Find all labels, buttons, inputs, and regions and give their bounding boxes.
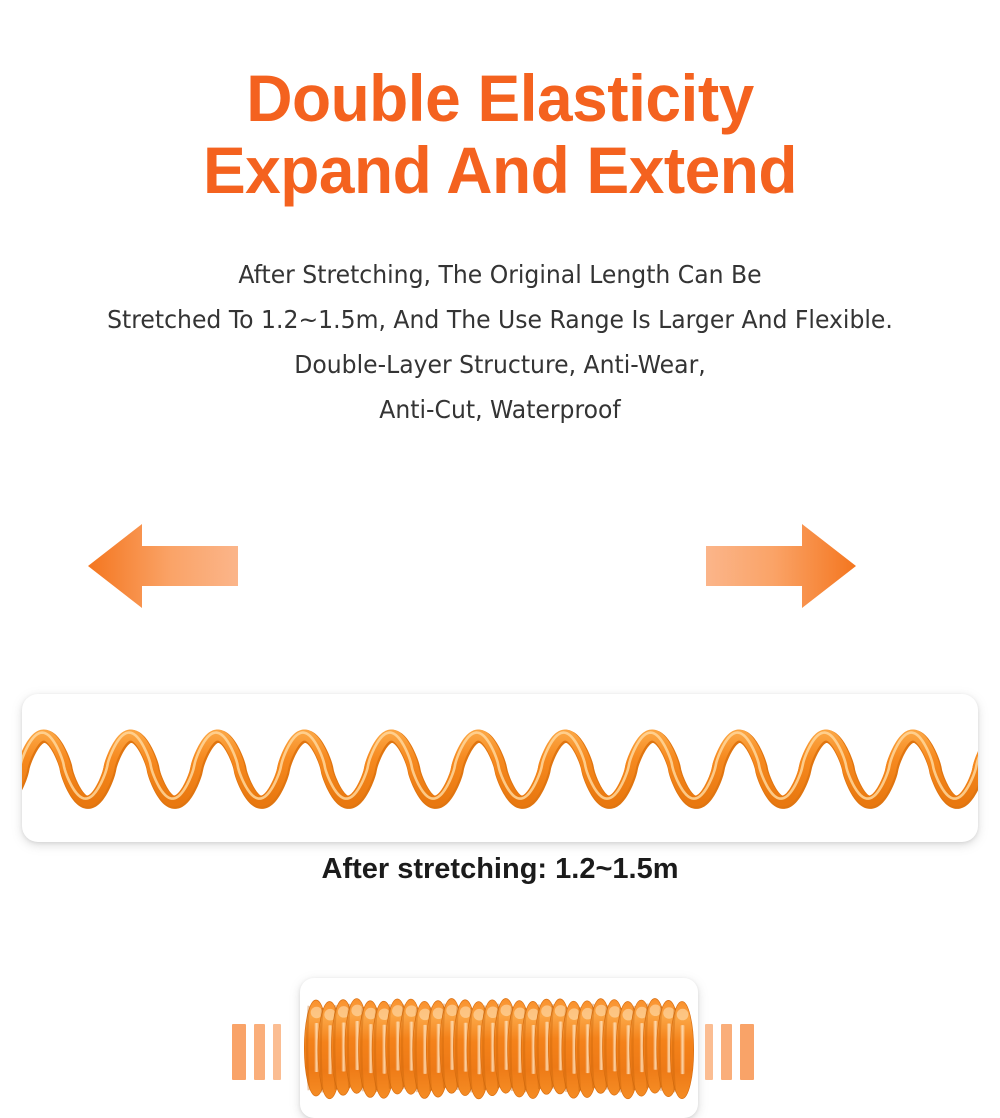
dash-segment <box>254 1024 265 1080</box>
headline-block: Double Elasticity Expand And Extend <box>0 62 1000 206</box>
subcopy-line-2: Stretched To 1.2~1.5m, And The Use Range… <box>20 297 980 342</box>
headline-line-2: Expand And Extend <box>15 134 985 206</box>
dash-segment <box>740 1024 754 1080</box>
caption-text: After stretching: 1.2~1.5m <box>0 851 1000 887</box>
arrow-right-icon <box>706 522 856 614</box>
stretch-diagram <box>0 486 1000 646</box>
dash-segment <box>232 1024 246 1080</box>
dash-segment <box>721 1024 732 1080</box>
stretched-spring-wave <box>22 694 978 842</box>
dash-segment <box>273 1024 281 1080</box>
coil-gloss-cap <box>677 1009 689 1021</box>
coil-highlight <box>680 1025 685 1074</box>
coiled-spring-image <box>300 978 698 1118</box>
dash-group-left <box>232 1024 281 1080</box>
subcopy-block: After Stretching, The Original Length Ca… <box>0 252 1000 432</box>
subcopy-line-1: After Stretching, The Original Length Ca… <box>20 252 980 297</box>
arrow-left-icon <box>88 522 238 614</box>
stretched-spring-card <box>22 694 978 842</box>
subcopy-line-4: Anti-Cut, Waterproof <box>20 387 980 432</box>
dash-segment <box>705 1024 713 1080</box>
dash-group-right <box>705 1024 754 1080</box>
headline-line-1: Double Elasticity <box>15 62 985 134</box>
coil-card <box>300 978 698 1118</box>
subcopy-line-3: Double-Layer Structure, Anti-Wear, <box>20 342 980 387</box>
